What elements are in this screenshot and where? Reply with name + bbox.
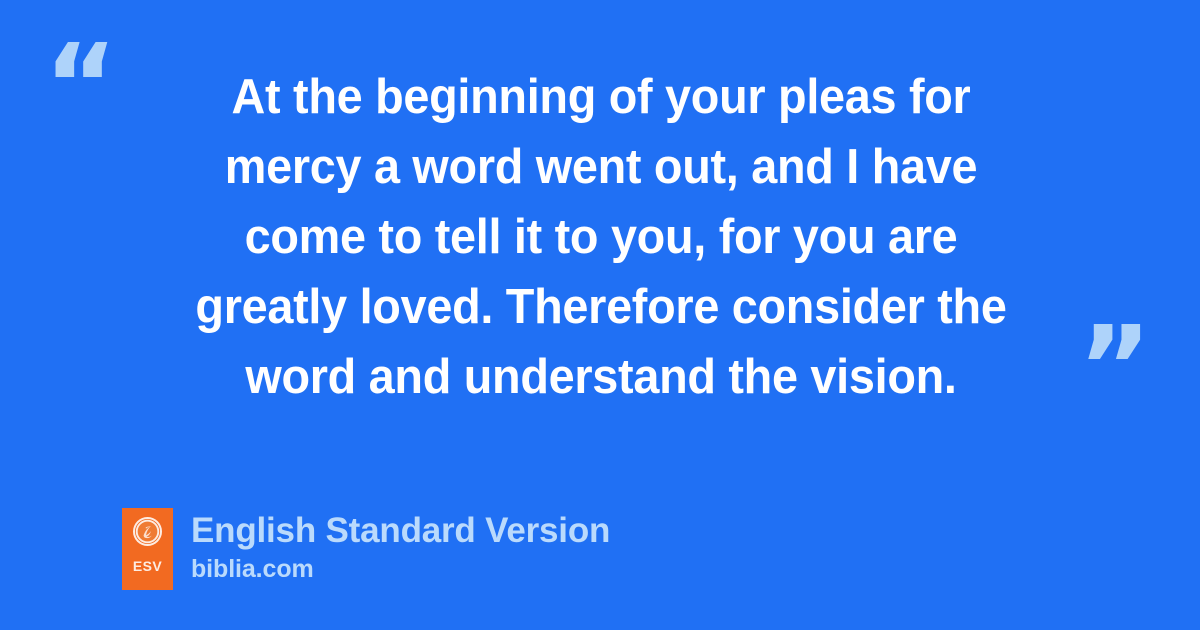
closing-quote-icon: ”	[1078, 312, 1150, 424]
quote-text: At the beginning of your pleas for mercy…	[119, 62, 1084, 412]
esv-abbreviation-label: ESV	[133, 559, 162, 573]
esv-seal-icon	[132, 516, 163, 547]
quote-line: word and understand the vision.	[119, 342, 1084, 412]
attribution-text: English Standard Version biblia.com	[191, 508, 610, 584]
site-url-label: biblia.com	[191, 554, 610, 584]
quote-line: come to tell it to you, for you are	[119, 202, 1084, 272]
quote-line: greatly loved. Therefore consider the	[119, 272, 1084, 342]
quote-line: At the beginning of your pleas for	[119, 62, 1084, 132]
attribution: ESV English Standard Version biblia.com	[122, 508, 610, 590]
quote-area: “ At the beginning of your pleas for mer…	[0, 0, 1200, 445]
quote-line: mercy a word went out, and I have	[119, 132, 1084, 202]
esv-logo-tile: ESV	[122, 508, 173, 590]
quote-card: “ At the beginning of your pleas for mer…	[0, 0, 1200, 630]
bible-version-title: English Standard Version	[191, 510, 610, 552]
opening-quote-icon: “	[44, 30, 116, 142]
